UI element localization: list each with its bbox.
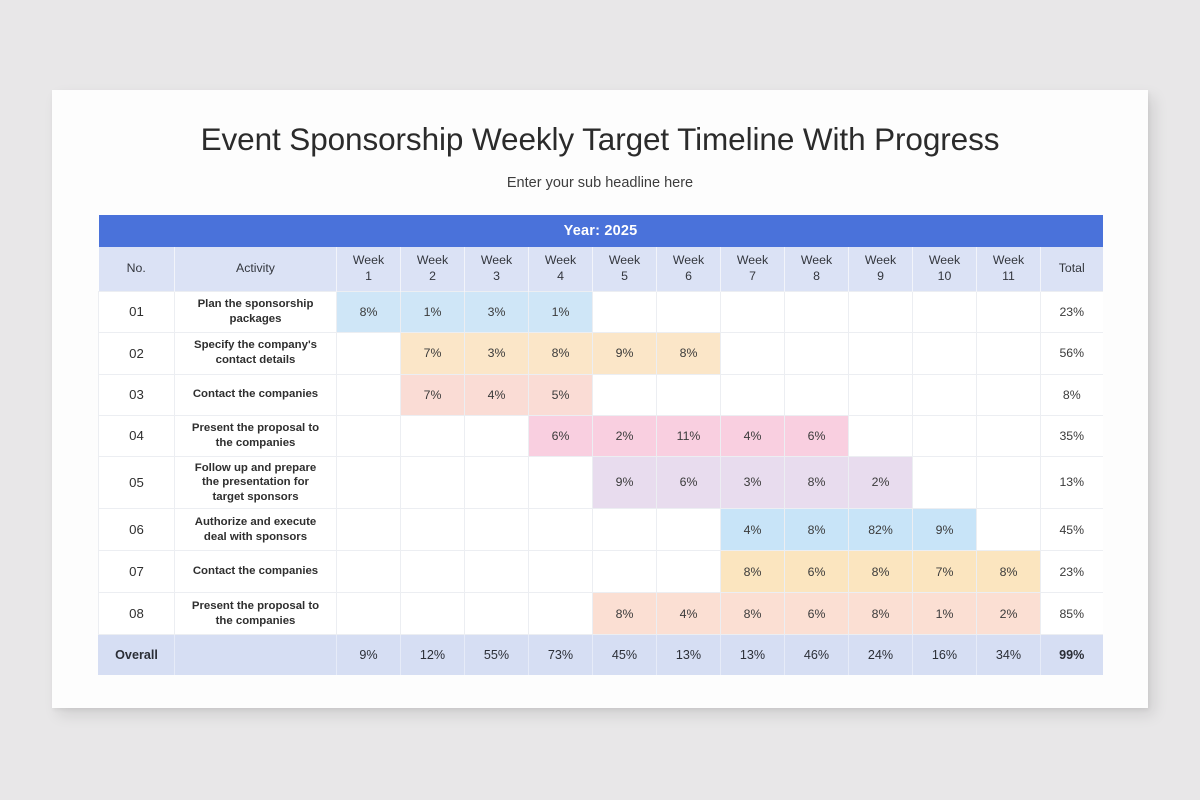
activity-cell: Plan the sponsorship packages [175,291,337,332]
week-cell-10[interactable]: 9% [913,509,977,551]
week-cell-8[interactable]: 6% [785,415,849,456]
overall-row: Overall9%12%55%73%45%13%13%46%24%16%34%9… [99,635,1103,675]
total-cell: 35% [1041,415,1103,456]
week-cell-7[interactable]: 8% [721,551,785,593]
column-header-week-1: Week1 [337,247,401,291]
week-head-label: Week [913,253,976,268]
column-header-week-10: Week10 [913,247,977,291]
week-cell-8[interactable]: 6% [785,551,849,593]
overall-label: Overall [99,635,175,675]
year-banner-row: Year: 2025 [99,215,1103,247]
overall-week-cell-10: 16% [913,635,977,675]
week-cell-7[interactable] [721,332,785,374]
week-cell-11[interactable] [977,415,1041,456]
total-cell: 8% [1041,374,1103,415]
week-cell-11[interactable]: 2% [977,593,1041,635]
week-cell-2[interactable] [401,509,465,551]
week-head-number: 8 [785,269,848,284]
week-cell-9[interactable]: 2% [849,456,913,509]
week-cell-1[interactable] [337,593,401,635]
overall-activity-cell [175,635,337,675]
week-cell-6[interactable]: 11% [657,415,721,456]
activity-cell: Contact the companies [175,551,337,593]
week-cell-6[interactable] [657,509,721,551]
week-cell-6[interactable] [657,374,721,415]
week-cell-3[interactable] [465,551,529,593]
column-header-week-5: Week5 [593,247,657,291]
week-cell-8[interactable] [785,291,849,332]
week-cell-4[interactable] [529,551,593,593]
week-cell-7[interactable]: 8% [721,593,785,635]
week-cell-8[interactable] [785,332,849,374]
week-cell-10[interactable] [913,415,977,456]
week-head-number: 10 [913,269,976,284]
total-cell: 23% [1041,551,1103,593]
week-cell-5[interactable] [593,551,657,593]
week-cell-8[interactable]: 8% [785,456,849,509]
week-cell-4[interactable]: 6% [529,415,593,456]
table-row: 02Specify the company's contact details7… [99,332,1103,374]
overall-week-cell-4: 73% [529,635,593,675]
table-body: 01Plan the sponsorship packages8%1%3%1%2… [99,291,1103,675]
overall-week-cell-3: 55% [465,635,529,675]
row-number-cell: 02 [99,332,175,374]
week-cell-11[interactable]: 8% [977,551,1041,593]
week-cell-1[interactable] [337,456,401,509]
week-cell-7[interactable]: 3% [721,456,785,509]
column-header-week-6: Week6 [657,247,721,291]
week-cell-6[interactable] [657,291,721,332]
week-cell-2[interactable]: 7% [401,374,465,415]
week-head-label: Week [657,253,720,268]
page-title: Event Sponsorship Weekly Target Timeline… [52,121,1148,158]
week-head-label: Week [401,253,464,268]
week-cell-3[interactable] [465,415,529,456]
week-head-number: 2 [401,269,464,284]
week-head-number: 3 [465,269,528,284]
week-cell-1[interactable] [337,332,401,374]
overall-total-cell: 99% [1041,635,1103,675]
slide-card: Event Sponsorship Weekly Target Timeline… [52,90,1148,708]
week-cell-6[interactable]: 4% [657,593,721,635]
week-cell-5[interactable]: 8% [593,593,657,635]
week-head-label: Week [465,253,528,268]
week-cell-9[interactable] [849,332,913,374]
row-number-cell: 08 [99,593,175,635]
week-cell-5[interactable] [593,291,657,332]
week-cell-9[interactable]: 8% [849,551,913,593]
week-cell-8[interactable]: 6% [785,593,849,635]
week-cell-11[interactable] [977,374,1041,415]
week-head-label: Week [529,253,592,268]
week-cell-10[interactable]: 7% [913,551,977,593]
activity-cell: Authorize and execute deal with sponsors [175,509,337,551]
week-head-number: 6 [657,269,720,284]
overall-week-cell-2: 12% [401,635,465,675]
week-head-number: 11 [977,269,1040,284]
week-cell-10[interactable] [913,332,977,374]
week-cell-11[interactable] [977,332,1041,374]
week-cell-4[interactable]: 5% [529,374,593,415]
week-cell-5[interactable]: 2% [593,415,657,456]
total-cell: 13% [1041,456,1103,509]
total-cell: 85% [1041,593,1103,635]
week-cell-5[interactable] [593,374,657,415]
week-cell-1[interactable] [337,551,401,593]
week-cell-6[interactable]: 8% [657,332,721,374]
week-cell-3[interactable] [465,593,529,635]
week-cell-10[interactable] [913,374,977,415]
week-cell-10[interactable]: 1% [913,593,977,635]
week-head-label: Week [337,253,400,268]
overall-week-cell-5: 45% [593,635,657,675]
week-cell-8[interactable]: 8% [785,509,849,551]
overall-week-cell-7: 13% [721,635,785,675]
week-head-label: Week [721,253,784,268]
week-cell-1[interactable] [337,415,401,456]
table-row: 08Present the proposal to the companies8… [99,593,1103,635]
week-cell-4[interactable] [529,456,593,509]
column-header-week-8: Week8 [785,247,849,291]
week-cell-2[interactable] [401,593,465,635]
week-head-label: Week [785,253,848,268]
week-cell-2[interactable] [401,551,465,593]
week-cell-1[interactable] [337,374,401,415]
week-cell-6[interactable]: 6% [657,456,721,509]
week-cell-1[interactable]: 8% [337,291,401,332]
total-cell: 56% [1041,332,1103,374]
column-header-row: No.ActivityWeek1Week2Week3Week4Week5Week… [99,247,1103,291]
week-cell-5[interactable] [593,509,657,551]
week-cell-3[interactable]: 4% [465,374,529,415]
overall-week-cell-11: 34% [977,635,1041,675]
column-header-no: No. [99,247,175,291]
activity-cell: Specify the company's contact details [175,332,337,374]
row-number-cell: 07 [99,551,175,593]
week-head-number: 4 [529,269,592,284]
week-cell-3[interactable]: 3% [465,332,529,374]
activity-cell: Present the proposal to the companies [175,593,337,635]
overall-week-cell-9: 24% [849,635,913,675]
table-head: Year: 2025 No.ActivityWeek1Week2Week3Wee… [99,215,1103,291]
row-number-cell: 05 [99,456,175,509]
week-cell-4[interactable] [529,509,593,551]
week-head-number: 7 [721,269,784,284]
activity-cell: Present the proposal to the companies [175,415,337,456]
week-cell-4[interactable]: 8% [529,332,593,374]
page-subtitle: Enter your sub headline here [52,175,1148,191]
week-cell-9[interactable] [849,415,913,456]
overall-week-cell-8: 46% [785,635,849,675]
week-cell-4[interactable]: 1% [529,291,593,332]
table-row: 03Contact the companies7%4%5%8% [99,374,1103,415]
week-head-label: Week [849,253,912,268]
table-row: 01Plan the sponsorship packages8%1%3%1%2… [99,291,1103,332]
year-banner: Year: 2025 [99,215,1103,247]
week-cell-9[interactable]: 82% [849,509,913,551]
column-header-total: Total [1041,247,1103,291]
column-header-week-9: Week9 [849,247,913,291]
week-cell-7[interactable]: 4% [721,509,785,551]
column-header-week-3: Week3 [465,247,529,291]
week-cell-3[interactable] [465,509,529,551]
table-row: 06Authorize and execute deal with sponso… [99,509,1103,551]
table-row: 05Follow up and prepare the presentation… [99,456,1103,509]
week-cell-6[interactable] [657,551,721,593]
week-head-number: 1 [337,269,400,284]
week-cell-10[interactable] [913,456,977,509]
week-cell-2[interactable]: 7% [401,332,465,374]
activity-cell: Contact the companies [175,374,337,415]
timeline-table-container: Year: 2025 No.ActivityWeek1Week2Week3Wee… [98,215,1102,675]
weekly-target-timeline-table: Year: 2025 No.ActivityWeek1Week2Week3Wee… [98,215,1103,675]
week-cell-5[interactable]: 9% [593,456,657,509]
column-header-activity: Activity [175,247,337,291]
week-cell-7[interactable]: 4% [721,415,785,456]
overall-week-cell-1: 9% [337,635,401,675]
week-cell-11[interactable] [977,291,1041,332]
table-row: 07Contact the companies8%6%8%7%8%23% [99,551,1103,593]
week-cell-7[interactable] [721,374,785,415]
week-cell-4[interactable] [529,593,593,635]
total-cell: 23% [1041,291,1103,332]
week-cell-11[interactable] [977,456,1041,509]
week-cell-7[interactable] [721,291,785,332]
week-cell-9[interactable]: 8% [849,593,913,635]
overall-week-cell-6: 13% [657,635,721,675]
week-cell-11[interactable] [977,509,1041,551]
week-head-label: Week [977,253,1040,268]
week-cell-1[interactable] [337,509,401,551]
week-cell-3[interactable] [465,456,529,509]
week-head-number: 5 [593,269,656,284]
row-number-cell: 01 [99,291,175,332]
week-cell-9[interactable] [849,374,913,415]
total-cell: 45% [1041,509,1103,551]
activity-cell: Follow up and prepare the presentation f… [175,456,337,509]
week-head-label: Week [593,253,656,268]
week-cell-10[interactable] [913,291,977,332]
week-cell-9[interactable] [849,291,913,332]
row-number-cell: 06 [99,509,175,551]
week-cell-2[interactable]: 1% [401,291,465,332]
week-cell-5[interactable]: 9% [593,332,657,374]
week-cell-2[interactable] [401,456,465,509]
column-header-week-7: Week7 [721,247,785,291]
week-cell-8[interactable] [785,374,849,415]
column-header-week-11: Week11 [977,247,1041,291]
week-cell-3[interactable]: 3% [465,291,529,332]
week-cell-2[interactable] [401,415,465,456]
week-head-number: 9 [849,269,912,284]
table-row: 04Present the proposal to the companies6… [99,415,1103,456]
column-header-week-2: Week2 [401,247,465,291]
row-number-cell: 03 [99,374,175,415]
column-header-week-4: Week4 [529,247,593,291]
row-number-cell: 04 [99,415,175,456]
